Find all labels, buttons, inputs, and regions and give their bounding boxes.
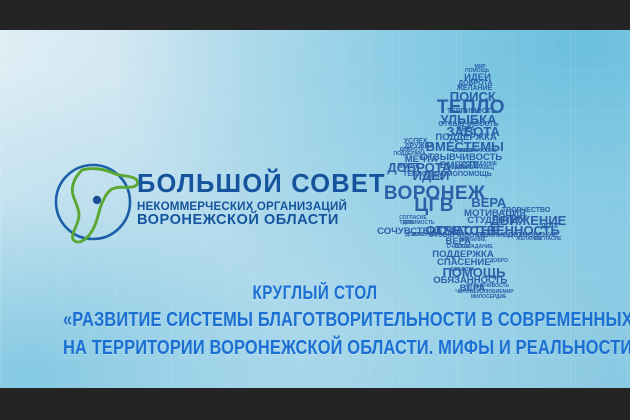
slide-stage: БОЛЬШОЙ СОВЕТ НЕКОММЕРЧЕСКИХ ОРГАНИЗАЦИЙ… [0, 0, 630, 420]
word-cloud-term: ДОБРО [490, 259, 508, 264]
voronezh-region-globe-emblem-icon [52, 156, 144, 248]
letterbox-top [0, 0, 630, 30]
letterbox-bottom [0, 388, 630, 420]
dove-word-cloud: МИРПОМОЩЬИДЕИДОБРОТАЖЕЛАНИЕПОИСКТЕПЛОТЕР… [392, 52, 630, 292]
logo-line-1: БОЛЬШОЙ СОВЕТ [137, 172, 397, 198]
word-cloud-term: ЗАБОТА [423, 177, 444, 182]
event-title-line-2: НА ТЕРРИТОРИИ ВОРОНЕЖСКОЙ ОБЛАСТИ. МИФЫ … [63, 334, 567, 362]
word-cloud-term: ЖЕЛАНИЕ [460, 238, 486, 243]
word-cloud-term: ВОЛОНТЕР [412, 233, 440, 238]
event-kicker: КРУГЛЫЙ СТОЛ [63, 282, 567, 306]
logo-wordmark: БОЛЬШОЙ СОВЕТ НЕКОММЕРЧЕСКИХ ОРГАНИЗАЦИЙ… [137, 172, 397, 229]
word-cloud-term: ДОБРОТА [450, 268, 475, 273]
word-cloud-term: СОГЛАСИЕ [534, 237, 562, 242]
logo-line-3: ВОРОНЕЖСКОЙ ОБЛАСТИ [137, 213, 397, 229]
organization-logo: БОЛЬШОЙ СОВЕТ НЕКОММЕРЧЕСКИХ ОРГАНИЗАЦИЙ… [52, 156, 392, 252]
word-cloud-term: ДОЛГ [541, 223, 560, 230]
event-title-line-1: «РАЗВИТИЕ СИСТЕМЫ БЛАГОТВОРИТЕЛЬНОСТИ В … [63, 306, 567, 334]
logo-line-2: НЕКОММЕРЧЕСКИХ ОРГАНИЗАЦИЙ [137, 200, 397, 213]
word-cloud-term: ЦГВ [414, 196, 454, 215]
event-title-block: КРУГЛЫЙ СТОЛ «РАЗВИТИЕ СИСТЕМЫ БЛАГОТВОР… [0, 282, 630, 362]
presentation-slide: БОЛЬШОЙ СОВЕТ НЕКОММЕРЧЕСКИХ ОРГАНИЗАЦИЙ… [0, 30, 630, 388]
